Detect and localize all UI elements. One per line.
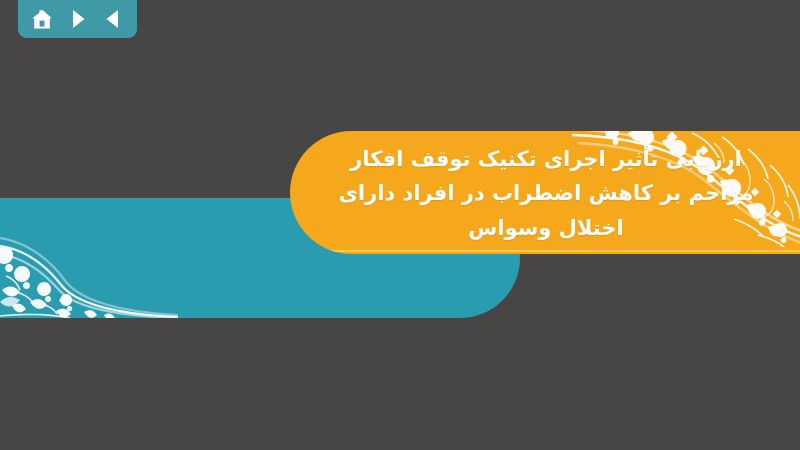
home-icon bbox=[30, 8, 54, 31]
title-line-2: مزاحم بر کاهش اضطراب در افراد دارای bbox=[339, 176, 754, 210]
next-slide-button[interactable] bbox=[65, 6, 91, 32]
presentation-slide: ارزیابی تأثیر اجرای تکنیک توقف افکار مزا… bbox=[0, 0, 800, 450]
triangle-left-icon bbox=[103, 8, 123, 30]
previous-slide-button[interactable] bbox=[100, 6, 126, 32]
title-line-1: ارزیابی تأثیر اجرای تکنیک توقف افکار bbox=[350, 142, 742, 176]
slide-title: ارزیابی تأثیر اجرای تکنیک توقف افکار مزا… bbox=[290, 131, 800, 254]
title-line-3: اختلال وسواس bbox=[468, 211, 623, 245]
title-banner: ارزیابی تأثیر اجرای تکنیک توقف افکار مزا… bbox=[290, 131, 800, 254]
navigation-bar bbox=[18, 0, 137, 38]
triangle-right-icon bbox=[68, 8, 88, 30]
home-button[interactable] bbox=[29, 6, 55, 32]
arabesque-ornament-icon bbox=[0, 198, 180, 318]
